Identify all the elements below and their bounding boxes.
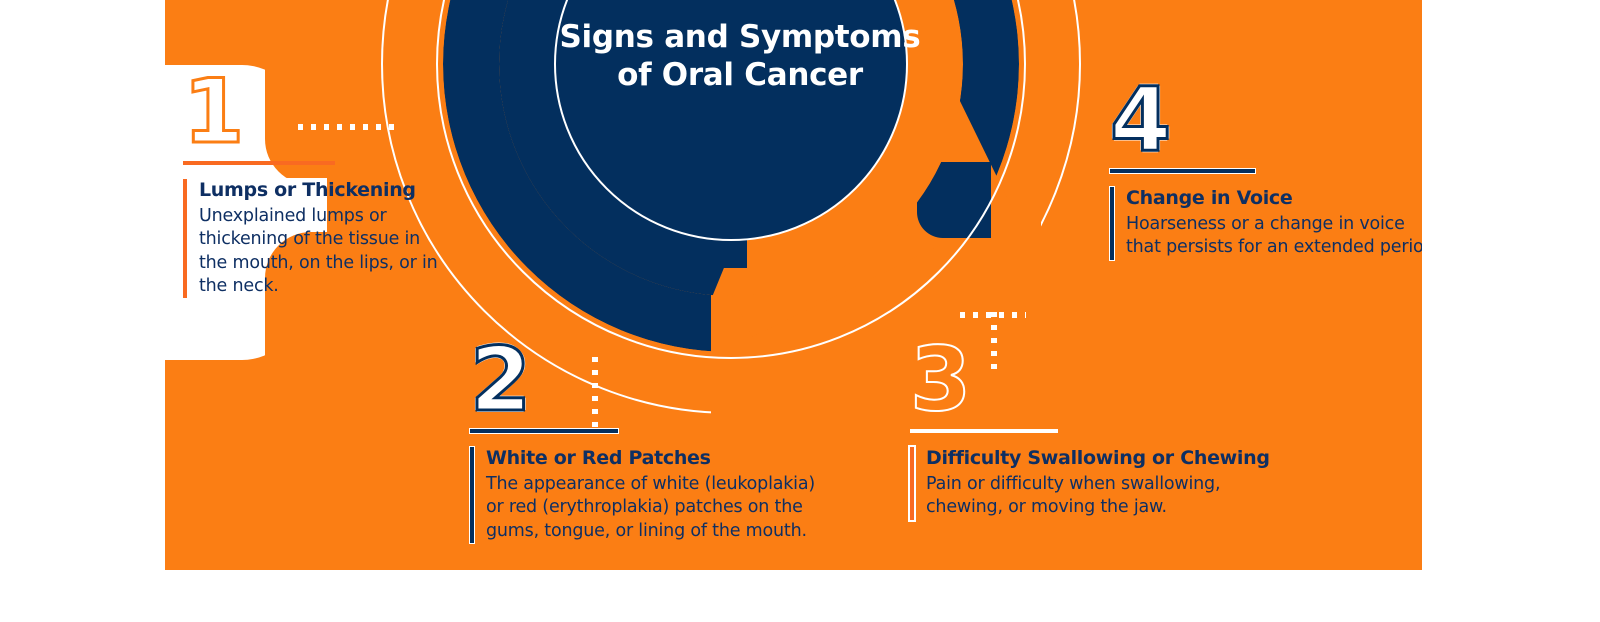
item-accent-bar-2 <box>470 447 474 543</box>
infographic-canvas: Signs and Symptoms of Oral Cancer 1 Lump… <box>165 0 1422 570</box>
infographic-stage: Signs and Symptoms of Oral Cancer 1 Lump… <box>0 0 1600 622</box>
page-title: Signs and Symptoms of Oral Cancer <box>554 18 926 95</box>
item-number-3: 3 <box>910 340 1300 419</box>
item-description-4: Hoarseness or a change in voice that per… <box>1126 213 1422 260</box>
item-accent-bar-4 <box>1110 187 1114 259</box>
item-heading-1: Lumps or Thickening <box>199 179 438 202</box>
item-heading-4: Change in Voice <box>1126 187 1422 210</box>
item-number-4: 4 <box>1110 80 1422 159</box>
symptom-item-1[interactable]: 1 Lumps or Thickening Unexplained lumps … <box>183 72 473 298</box>
item-number-2: 2 <box>470 340 850 419</box>
item-description-1: Unexplained lumps or thickening of the t… <box>199 205 438 298</box>
item-body-2: White or Red Patches The appearance of w… <box>470 447 850 543</box>
item-heading-2: White or Red Patches <box>486 447 815 470</box>
title-line-1: Signs and Symptoms <box>554 18 926 56</box>
item-body-3: Difficulty Swallowing or Chewing Pain or… <box>910 447 1300 519</box>
symptom-item-4[interactable]: 4 Change in Voice Hoarseness or a change… <box>1110 80 1422 260</box>
item-number-1: 1 <box>183 72 473 151</box>
symptom-item-2[interactable]: 2 White or Red Patches The appearance of… <box>470 340 850 543</box>
item-accent-bar-3 <box>910 447 914 519</box>
title-line-2: of Oral Cancer <box>554 56 926 94</box>
item-body-4: Change in Voice Hoarseness or a change i… <box>1110 187 1422 259</box>
item-accent-bar-1 <box>183 179 187 298</box>
item-body-1: Lumps or Thickening Unexplained lumps or… <box>183 179 473 298</box>
item-heading-3: Difficulty Swallowing or Chewing <box>926 447 1270 470</box>
symptom-item-3[interactable]: 3 Difficulty Swallowing or Chewing Pain … <box>910 340 1300 520</box>
item-description-3: Pain or difficulty when swallowing, chew… <box>926 473 1270 520</box>
item-description-2: The appearance of white (leukoplakia) or… <box>486 473 815 543</box>
